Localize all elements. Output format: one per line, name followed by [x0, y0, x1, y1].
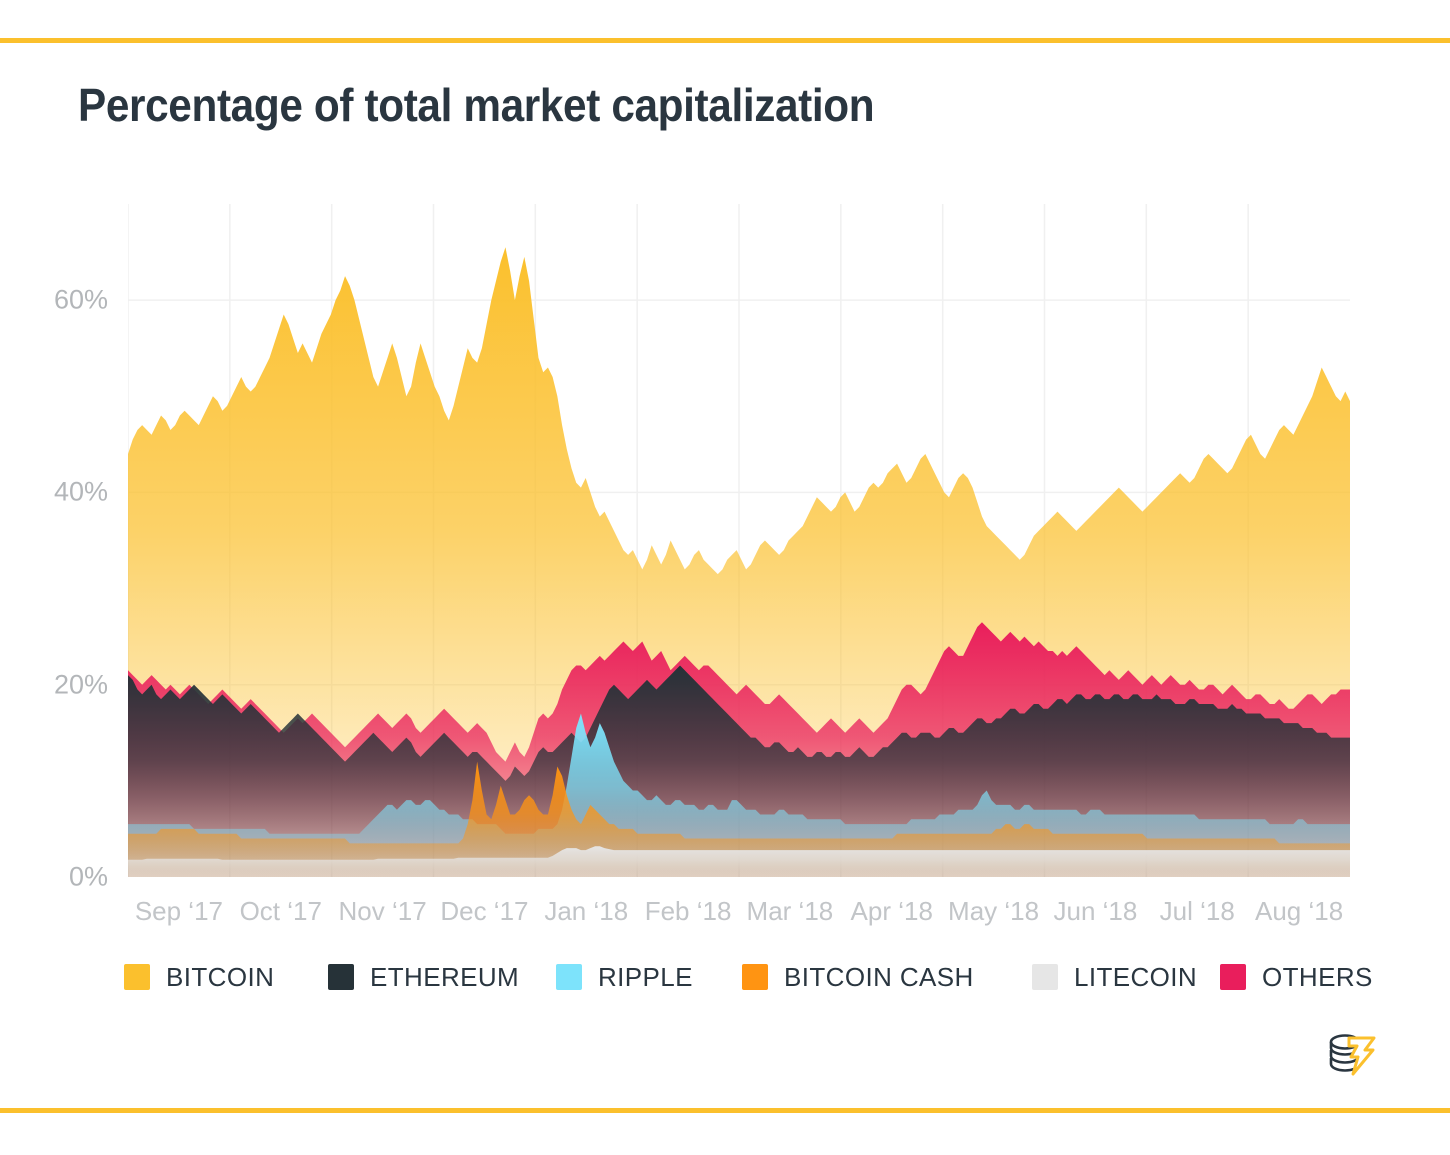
y-tick-label: 20%	[8, 669, 108, 700]
area-chart	[128, 204, 1350, 877]
x-axis: Sep ‘17Oct ‘17Nov ‘17Dec ‘17Jan ‘18Feb ‘…	[128, 896, 1350, 936]
legend-label: OTHERS	[1262, 962, 1373, 993]
y-tick-label: 0%	[8, 862, 108, 893]
x-tick-label: Mar ‘18	[747, 896, 834, 927]
legend-item-litecoin[interactable]: LITECOIN	[1032, 958, 1197, 996]
top-accent-rule	[0, 38, 1450, 43]
x-tick-label: Sep ‘17	[135, 896, 223, 927]
x-tick-label: Aug ‘18	[1255, 896, 1343, 927]
x-tick-label: May ‘18	[948, 896, 1039, 927]
legend-label: ETHEREUM	[370, 962, 519, 993]
page-title: Percentage of total market capitalizatio…	[78, 78, 874, 132]
x-tick-label: Feb ‘18	[645, 896, 732, 927]
legend-swatch-icon	[1220, 964, 1246, 990]
legend-item-others[interactable]: OTHERS	[1220, 958, 1373, 996]
x-tick-label: Apr ‘18	[851, 896, 933, 927]
legend-label: BITCOIN	[166, 962, 274, 993]
legend-item-ripple[interactable]: RIPPLE	[556, 958, 693, 996]
x-tick-label: Jun ‘18	[1053, 896, 1137, 927]
legend-swatch-icon	[742, 964, 768, 990]
legend-item-bitcoin[interactable]: BITCOIN	[124, 958, 274, 996]
x-tick-label: Oct ‘17	[240, 896, 322, 927]
y-tick-label: 40%	[8, 477, 108, 508]
legend-item-ethereum[interactable]: ETHEREUM	[328, 958, 519, 996]
x-tick-label: Nov ‘17	[339, 896, 427, 927]
bottom-accent-rule	[0, 1108, 1450, 1113]
legend-swatch-icon	[328, 964, 354, 990]
legend-item-bitcoin-cash[interactable]: BITCOIN CASH	[742, 958, 974, 996]
coin-stack-bolt-logo	[1322, 1026, 1380, 1084]
y-axis: 0%20%40%60%	[0, 204, 108, 877]
x-tick-label: Jan ‘18	[544, 896, 628, 927]
legend-label: RIPPLE	[598, 962, 693, 993]
chart-legend: BITCOINETHEREUMRIPPLEBITCOIN CASHLITECOI…	[124, 958, 1364, 998]
legend-label: LITECOIN	[1074, 962, 1197, 993]
legend-swatch-icon	[556, 964, 582, 990]
legend-label: BITCOIN CASH	[784, 962, 974, 993]
legend-swatch-icon	[1032, 964, 1058, 990]
legend-swatch-icon	[124, 964, 150, 990]
chart-svg	[128, 204, 1350, 877]
y-tick-label: 60%	[8, 285, 108, 316]
x-tick-label: Dec ‘17	[440, 896, 528, 927]
x-tick-label: Jul ‘18	[1160, 896, 1235, 927]
